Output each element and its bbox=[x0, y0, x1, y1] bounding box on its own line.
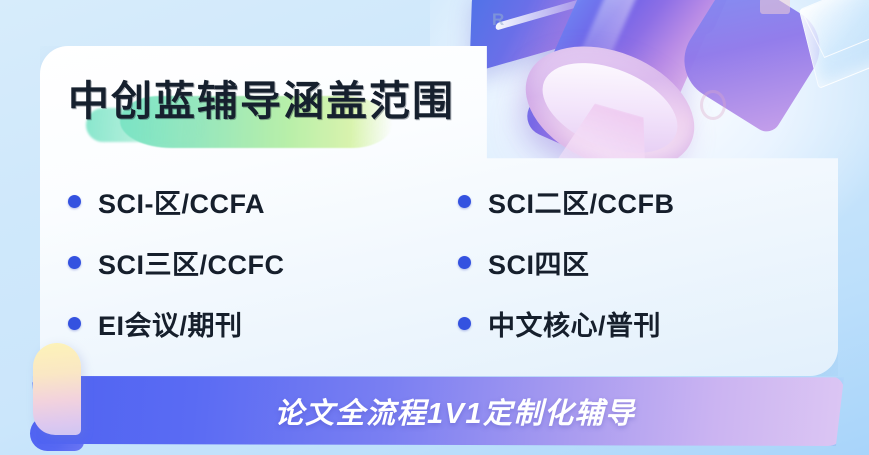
bullet-dot-icon bbox=[68, 317, 81, 330]
bottom-banner-text: 论文全流程1V1定制化辅导 bbox=[32, 376, 844, 446]
rocket-nose-icon bbox=[622, 0, 771, 39]
list-item-label: 中文核心/普刊 bbox=[488, 304, 661, 343]
ribbon-curl-icon bbox=[33, 343, 81, 435]
bottom-banner: 论文全流程1V1定制化辅导 bbox=[32, 376, 844, 446]
bullet-dot-icon bbox=[458, 195, 471, 208]
list-item: SCI-区/CCFA bbox=[68, 182, 458, 221]
list-item-label: SCI四区 bbox=[488, 243, 590, 282]
list-item: EI会议/期刊 bbox=[68, 304, 458, 343]
scope-list: SCI-区/CCFA SCI二区/CCFB SCI三区/CCFC SCI四区 E… bbox=[68, 182, 768, 343]
list-item-label: SCI二区/CCFB bbox=[488, 182, 675, 221]
poster-canvas: R 中创蓝辅导涵盖范围 SCI-区/CCFA SCI二区/CCFB SCI三区/… bbox=[0, 0, 869, 455]
crystal-cube-icon bbox=[799, 0, 869, 89]
list-item-label: EI会议/期刊 bbox=[98, 304, 243, 343]
bullet-dot-icon bbox=[458, 317, 471, 330]
bullet-dot-icon bbox=[458, 256, 471, 269]
list-item: SCI四区 bbox=[458, 243, 768, 282]
watermark-letter: R bbox=[492, 10, 505, 30]
page-title-text: 中创蓝辅导涵盖范围 bbox=[68, 78, 455, 126]
list-item: SCI二区/CCFB bbox=[458, 182, 768, 221]
rocket-fin-right-icon bbox=[669, 0, 834, 137]
bullet-dot-icon bbox=[68, 195, 81, 208]
bullet-dot-icon bbox=[68, 256, 81, 269]
list-item: SCI三区/CCFC bbox=[68, 243, 458, 282]
rocket-fin-left-icon bbox=[469, 0, 608, 74]
list-item-label: SCI-区/CCFA bbox=[98, 182, 265, 221]
page-title: 中创蓝辅导涵盖范围 bbox=[68, 78, 455, 126]
chip-decoration-icon bbox=[760, 0, 790, 14]
rocket-body-icon bbox=[521, 0, 743, 180]
ring-decoration-icon bbox=[700, 90, 726, 120]
list-item: 中文核心/普刊 bbox=[458, 304, 768, 343]
list-item-label: SCI三区/CCFC bbox=[98, 243, 285, 282]
